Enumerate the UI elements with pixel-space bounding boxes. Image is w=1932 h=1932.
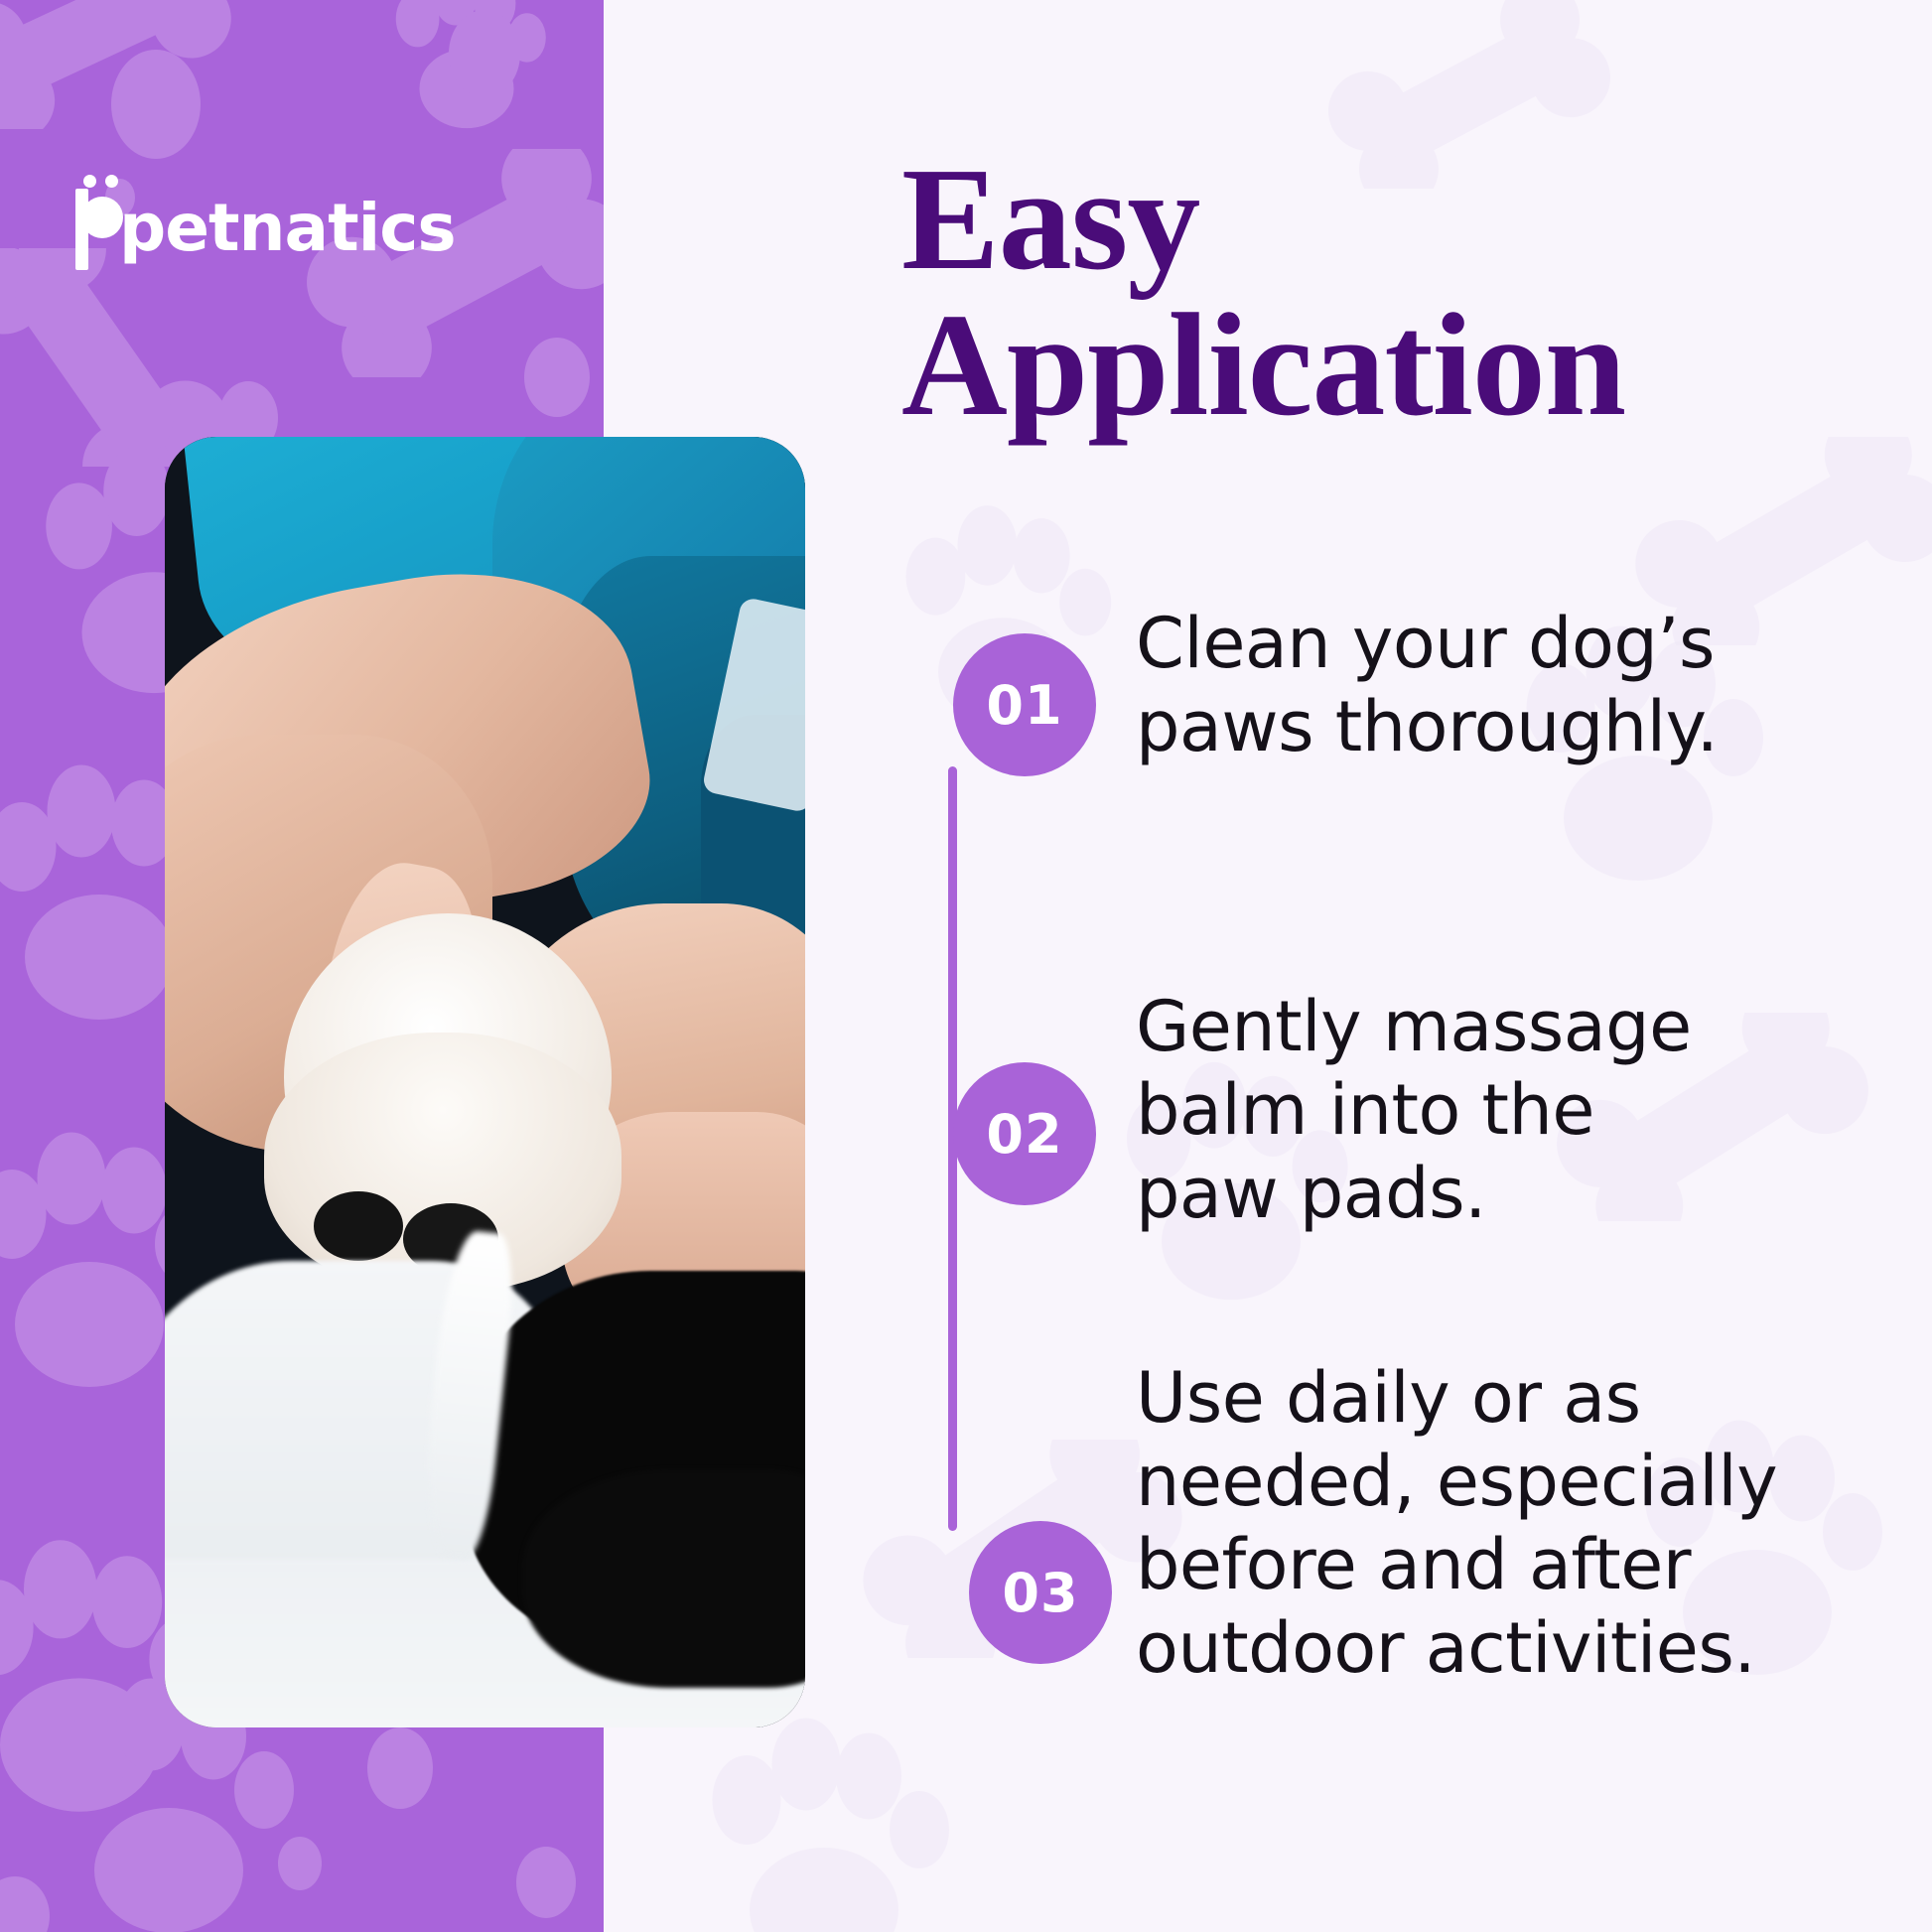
- step-text-02: Gently massage balm into the paw pads.: [1136, 985, 1831, 1235]
- step-text-01: Clean your dog’s paws thoroughly.: [1136, 602, 1831, 768]
- decorative-dot: [111, 50, 201, 159]
- petnatics-p-icon: [75, 175, 121, 270]
- decorative-dot: [449, 10, 520, 97]
- step-text-03: Use daily or as needed, especially befor…: [1136, 1356, 1851, 1690]
- paw-icon: [675, 1708, 973, 1932]
- decorative-dot: [367, 1727, 433, 1809]
- bone-icon: [0, 248, 258, 467]
- page-title: Easy Application: [901, 147, 1904, 438]
- headline-line-1: Easy: [901, 147, 1904, 293]
- application-photo: [165, 437, 805, 1727]
- step-badge-01[interactable]: 01: [953, 633, 1096, 776]
- decorative-dot: [278, 1837, 322, 1890]
- step-badge-03[interactable]: 03: [969, 1521, 1112, 1664]
- decorative-dot: [524, 338, 590, 417]
- easy-application-poster: petnatics Easy: [0, 0, 1932, 1932]
- brand-logo[interactable]: petnatics: [75, 181, 456, 250]
- brand-name: petnatics: [119, 181, 456, 276]
- decorative-dot: [516, 1847, 576, 1918]
- step-badge-02[interactable]: 02: [953, 1062, 1096, 1205]
- headline-line-2: Application: [901, 293, 1904, 439]
